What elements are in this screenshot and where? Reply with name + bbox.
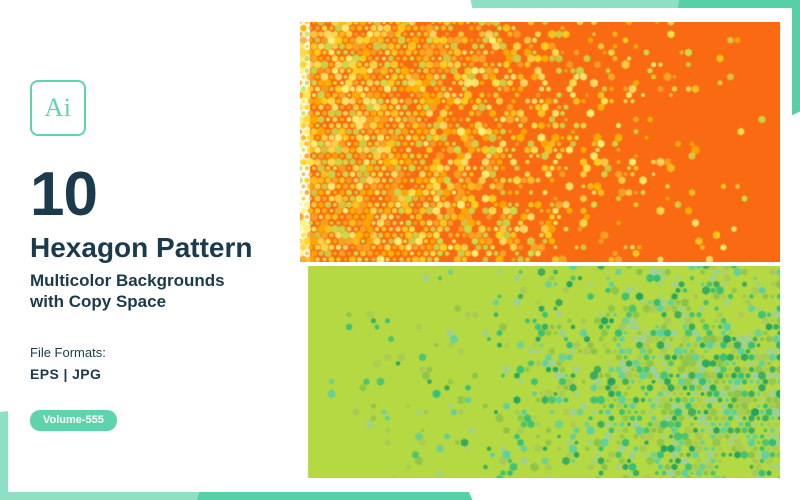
volume-badge: Volume-555 bbox=[30, 410, 117, 431]
adobe-illustrator-icon: Ai bbox=[30, 80, 86, 136]
artwork-canvas-orange bbox=[300, 22, 780, 262]
preview-canvas: Ai 10 Hexagon Pattern Multicolor Backgro… bbox=[0, 0, 800, 500]
file-formats-value: EPS | JPG bbox=[30, 366, 300, 382]
page-title: Hexagon Pattern bbox=[30, 233, 300, 264]
artwork-thumbnail-green[interactable] bbox=[300, 266, 780, 478]
file-formats-label: File Formats: bbox=[30, 345, 300, 360]
item-count: 10 bbox=[30, 166, 300, 225]
info-column: Ai 10 Hexagon Pattern Multicolor Backgro… bbox=[30, 80, 300, 431]
ai-badge-label: Ai bbox=[45, 93, 72, 123]
artwork-canvas-green bbox=[300, 266, 780, 478]
page-subtitle-line1: Multicolor Backgrounds bbox=[30, 270, 300, 292]
artwork-thumbnail-orange[interactable] bbox=[300, 22, 780, 262]
page-subtitle-line2: with Copy Space bbox=[30, 291, 300, 313]
page-subtitle: Multicolor Backgrounds with Copy Space bbox=[30, 270, 300, 314]
